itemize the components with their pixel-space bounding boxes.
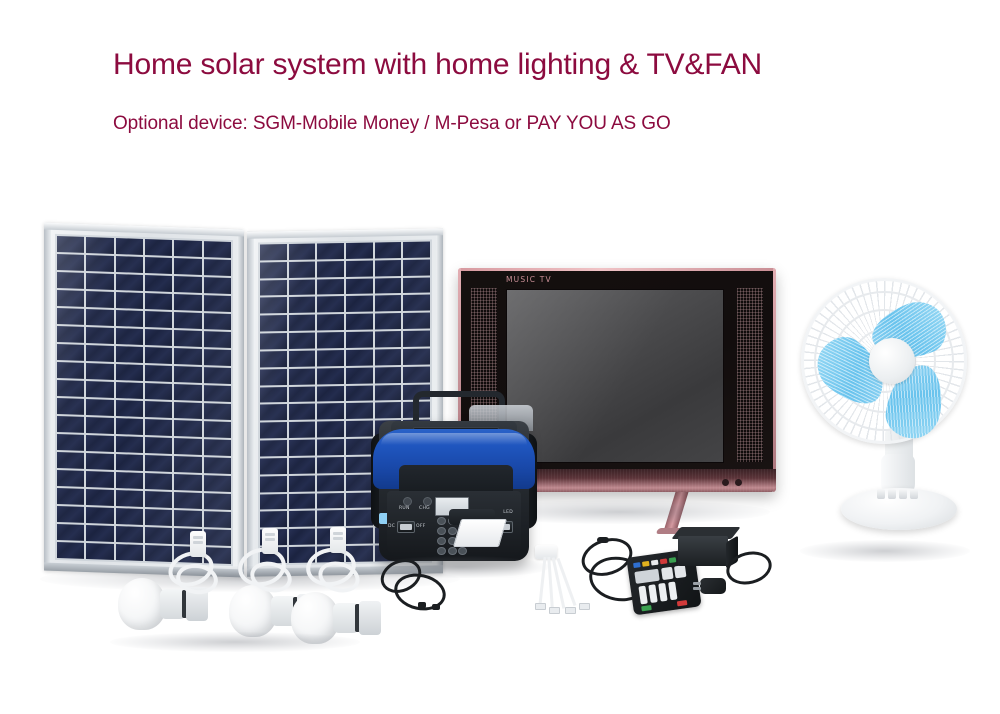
solar-cell [145,419,172,436]
solar-cell [260,512,287,528]
solar-cell [57,398,84,415]
solar-cell [289,279,316,295]
cable-ferrite-bead [597,537,609,543]
solar-cell [403,277,430,293]
solar-cell [174,402,201,419]
solar-cell [57,272,84,289]
solar-cell [289,422,316,438]
solar-cell [317,314,344,330]
solar-cell [317,457,344,473]
solar-cell [116,346,143,363]
solar-cell [57,506,84,523]
solar-cell [375,313,402,329]
solar-cell [403,366,430,382]
fan-speed-button-0[interactable] [877,489,885,499]
dc-label: DC [388,524,395,529]
solar-cell [57,542,84,559]
solar-cell [116,382,143,399]
solar-cell [145,491,172,508]
solar-cell [116,310,143,327]
solar-cell [174,366,201,383]
solar-cell [86,345,113,362]
solar-cell [317,386,344,402]
solar-cell [57,236,84,253]
solar-cell [204,457,231,474]
switch-slots [193,536,203,539]
solar-cell [260,440,287,456]
solar-cell [116,256,143,273]
solar-cell [116,490,143,507]
solar-cell [145,401,172,418]
solar-cell [86,291,113,308]
solar-cell [145,437,172,454]
solar-cell [57,380,84,397]
remote-power-button[interactable] [641,605,652,611]
solar-cell [346,367,373,383]
main-power-switch[interactable] [397,521,415,533]
solar-cell [116,400,143,417]
solar-cell [204,511,231,528]
solar-cell [174,240,201,257]
remote-source-bar[interactable] [668,581,677,600]
solar-cell [260,351,287,367]
fan-speed-button-1[interactable] [888,489,896,499]
eu-plug[interactable] [700,578,726,594]
solar-cell [346,385,373,401]
solar-cell [204,259,231,276]
remote-volume-bar[interactable] [638,586,647,605]
solar-cell [174,384,201,401]
solar-cell [260,476,287,492]
solar-cell [145,347,172,364]
solar-cell [346,296,373,312]
solar-cell [145,473,172,490]
solar-cell [145,455,172,472]
solar-cell [86,363,113,380]
solar-cell [317,439,344,455]
generator-dc-cord [380,558,500,614]
solar-cell [260,298,287,314]
solar-cell [317,511,344,527]
solar-cell [317,421,344,437]
cable-tip[interactable] [549,607,560,614]
bulb-2-switch[interactable] [262,528,278,554]
product-image-canvas: Home solar system with home lighting & T… [0,0,1000,714]
solar-cell [260,422,287,438]
solar-cell [346,314,373,330]
solar-cell [375,331,402,347]
solar-cell [174,312,201,329]
solar-cell [57,362,84,379]
solar-cell [174,456,201,473]
remote-navigation-pad[interactable] [634,569,659,584]
solar-cell [375,349,402,365]
bulb-holder [359,601,381,635]
solar-cell [116,472,143,489]
solar-cell [403,349,430,365]
solar-cell [204,529,231,546]
solar-cell [375,296,402,312]
solar-cell [204,349,231,366]
solar-cell [289,440,316,456]
solar-cell [204,313,231,330]
panel-edge-left [247,232,254,577]
solar-cell [145,239,172,256]
solar-cell [145,329,172,346]
solar-cell [204,241,231,258]
solar-cell [260,315,287,331]
solar-cell [174,276,201,293]
solar-cell [260,405,287,421]
solar-cell [174,348,201,365]
solar-cell [86,309,113,326]
solar-cell [116,292,143,309]
solar-cell [145,365,172,382]
solar-cell [145,509,172,526]
remote-mute-button[interactable] [677,600,688,606]
cable-tip[interactable] [535,603,546,610]
solar-cell [57,434,84,451]
run-label: RUN [399,506,410,511]
solar-cell [204,403,231,420]
solar-cell [174,330,201,347]
solar-cell [204,475,231,492]
solar-cell [204,421,231,438]
solar-cell [317,243,344,259]
solar-cell [204,331,231,348]
keypad-key[interactable] [458,547,467,555]
bulb-3-switch[interactable] [330,527,346,553]
solar-cell [317,368,344,384]
solar-power-generator-box: RUN CHG DC OFF LED [371,391,537,573]
keypad-key[interactable] [437,517,446,525]
switch-rocker-face [400,524,412,530]
solar-cell [289,493,316,509]
solar-cell [174,438,201,455]
solar-cell [86,381,113,398]
solar-cell [317,350,344,366]
solar-cell [346,332,373,348]
solar-cell [289,458,316,474]
solar-cell [289,261,316,277]
solar-cell [289,511,316,527]
solar-cell [260,458,287,474]
solar-cell [174,294,201,311]
solar-cell [346,510,373,526]
solar-cell [289,315,316,331]
keypad-key[interactable] [437,527,446,535]
solar-cell [86,543,113,560]
fan-button-row[interactable] [877,489,918,499]
led-label: LED [503,510,513,515]
solar-cell [86,237,113,254]
switch-slots [265,533,275,536]
solar-cell [116,418,143,435]
keypad-key[interactable] [437,547,446,555]
solar-cell [174,420,201,437]
fan-speed-button-3[interactable] [910,489,918,499]
solar-cell [86,525,113,542]
fan-guard-cage [801,278,967,444]
solar-cell [260,494,287,510]
solar-cell [346,260,373,276]
gen-built-in-lamp [453,519,507,547]
solar-cell [57,488,84,505]
solar-cell [57,416,84,433]
run-indicator-lamp [403,497,412,506]
chg-indicator-lamp [423,497,432,506]
solar-cell [346,474,373,490]
solar-cell [57,344,84,361]
switch-slots [333,532,343,535]
solar-cell [174,510,201,527]
page-title: Home solar system with home lighting & T… [113,48,762,82]
keypad-key[interactable] [437,537,446,545]
solar-cell [346,278,373,294]
remote-channel-bar[interactable] [648,584,657,603]
solar-cell [403,313,430,329]
solar-cell [375,242,402,258]
solar-cell [174,474,201,491]
bulb-1-switch[interactable] [190,531,206,557]
solar-cell [346,421,373,437]
solar-cell [317,332,344,348]
solar-cell [204,295,231,312]
solar-cell [317,297,344,313]
solar-cell [289,475,316,491]
solar-cell [145,527,172,544]
solar-cell [86,489,113,506]
solar-cell [57,452,84,469]
solar-cell [145,311,172,328]
bulb-glass [118,578,166,630]
solar-cell [204,493,231,510]
solar-cell [86,453,113,470]
solar-cell [375,278,402,294]
solar-cell [317,279,344,295]
solar-cell [116,436,143,453]
solar-cell [145,293,172,310]
solar-cell [145,257,172,274]
fan-hub-cap [869,338,915,384]
solar-cell [260,369,287,385]
solar-cell [375,367,402,383]
solar-cell [57,470,84,487]
solar-cell [204,277,231,294]
remote-menu-button[interactable] [661,567,674,580]
solar-cell [346,528,373,544]
plug-pins [693,582,701,585]
solar-cell [346,403,373,419]
panel-edge-right [237,229,244,577]
solar-cell [145,383,172,400]
solar-cell [260,280,287,296]
dc-connector-tip[interactable] [418,602,426,608]
remote-blue-button[interactable] [633,562,641,568]
page-subtitle: Optional device: SGM-Mobile Money / M-Pe… [113,113,671,135]
solar-cell [289,386,316,402]
solar-cell [289,297,316,313]
solar-cell [317,261,344,277]
solar-cell [116,508,143,525]
solar-cell [116,238,143,255]
solar-cell [403,259,430,275]
gen-blue-band [373,429,535,489]
solar-cell [317,475,344,491]
solar-cell [116,544,143,561]
solar-cell [289,351,316,367]
solar-cell [317,404,344,420]
gen-blue-highlight [381,433,527,445]
tv-speaker-grille-right [737,288,763,462]
dc-connector-tip[interactable] [432,604,440,610]
bulb-glass [229,585,277,637]
keypad-key[interactable] [448,547,457,555]
solar-cell [174,492,201,509]
tv-screen [506,289,724,463]
solar-cell [57,290,84,307]
desk-fan [793,278,978,563]
solar-cell [289,244,316,260]
remote-white-button[interactable] [651,560,659,566]
off-label: OFF [416,524,426,529]
solar-cell [204,385,231,402]
solar-cell [260,387,287,403]
solar-cell [86,417,113,434]
chg-label: CHG [419,506,430,511]
solar-cell [57,326,84,343]
remote-function-bar[interactable] [658,583,667,602]
solar-cell [289,529,316,545]
solar-cell [346,439,373,455]
solar-cell [57,524,84,541]
solar-cell [86,399,113,416]
solar-cell [86,327,113,344]
solar-cell [116,364,143,381]
tv-ir-sensor-icon [735,479,742,486]
tv-logo: MUSIC TV [506,275,552,284]
solar-cell [403,295,430,311]
panel-edge-left [44,223,51,571]
solar-cell [86,255,113,272]
solar-cell [86,507,113,524]
solar-cell [116,454,143,471]
solar-cell [116,526,143,543]
adapter-face [678,536,728,566]
solar-panel-back [44,223,244,578]
solar-cell [403,242,430,258]
cable-strand [538,557,546,605]
tv-bezel-top [458,268,776,271]
solar-cell [86,471,113,488]
solar-cell [86,435,113,452]
solar-cell [289,368,316,384]
solar-cell [346,492,373,508]
solar-cell [57,254,84,271]
solar-cell [289,333,316,349]
solar-cell [346,243,373,259]
fan-speed-button-2[interactable] [899,489,907,499]
bulb-glass [291,592,339,644]
tv-bezel-right [773,268,776,492]
solar-cell [260,333,287,349]
remote-yellow-button[interactable] [642,561,650,567]
solar-cell [317,493,344,509]
solar-cell [260,262,287,278]
solar-cell [174,258,201,275]
solar-cell [204,367,231,384]
solar-cell [116,328,143,345]
tv-stand-leg [663,488,689,532]
panel-cell-grid [55,234,233,566]
solar-cell [346,350,373,366]
solar-cell [145,275,172,292]
solar-cell [260,244,287,260]
remote-red-button[interactable] [660,558,668,564]
solar-cell [145,545,172,562]
keypad-key[interactable] [448,527,457,535]
solar-cell [375,260,402,276]
tv-screen-glare [507,290,723,462]
solar-cell [204,439,231,456]
fan-blade-assembly [828,297,956,425]
solar-cell [86,273,113,290]
solar-cell [346,457,373,473]
solar-cell [116,274,143,291]
solar-cell [289,404,316,420]
solar-cell [57,308,84,325]
solar-cell [403,331,430,347]
